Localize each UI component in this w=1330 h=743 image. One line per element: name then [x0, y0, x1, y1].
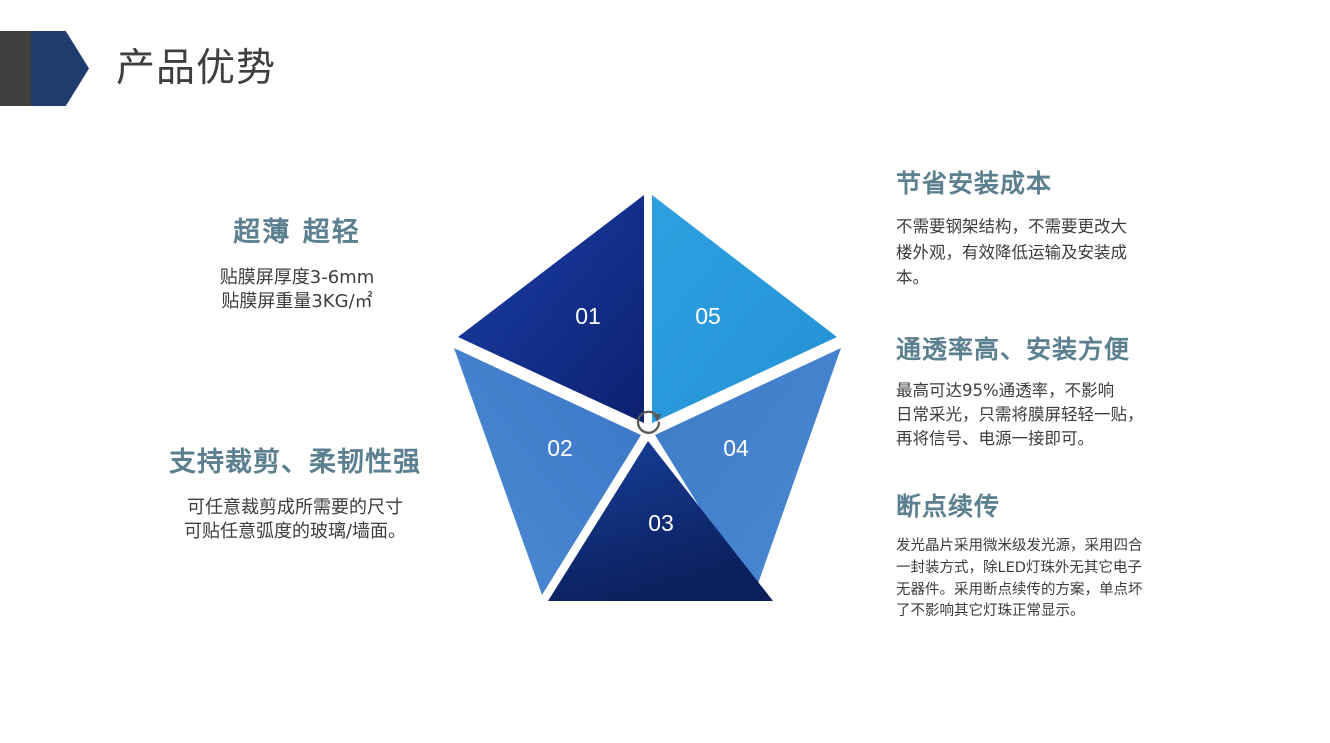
callout-install-cost-line-2: 楼外观，有效降低运输及安装成 — [896, 240, 1226, 266]
rotate-refresh-icon — [638, 412, 662, 433]
callout-transparency-body: 最高可达95%通透率，不影响 日常采光，只需将膜屏轻轻一贴， 再将信号、电源一接… — [896, 379, 1226, 451]
callout-thin-light-heading: 超薄 超轻 — [132, 210, 462, 249]
callout-cuttable-body: 可任意裁剪成所需要的尺寸 可贴任意弧度的玻璃/墙面。 — [125, 496, 465, 545]
callout-breakpoint-line-3: 无器件。采用断点续传的方案，单点坏 — [896, 580, 1226, 602]
callout-thin-light-body: 贴膜屏厚度3-6mm 贴膜屏重量3KG/㎡ — [132, 266, 462, 315]
callout-thin-light: 超薄 超轻 贴膜屏厚度3-6mm 贴膜屏重量3KG/㎡ — [132, 210, 462, 315]
callout-transparency-line-1: 最高可达95%通透率，不影响 — [896, 379, 1226, 403]
pentagon-svg: 01 05 02 04 03 — [438, 185, 858, 615]
page-header-banner: 产品优势 — [0, 31, 276, 106]
pentagon-segment-05-label: 05 — [695, 303, 721, 329]
callout-breakpoint-heading: 断点续传 — [896, 487, 1226, 523]
callout-transparency-heading: 通透率高、安装方便 — [896, 330, 1226, 366]
header-arrow-shape — [31, 31, 89, 106]
pentagon-segment-02-label: 02 — [547, 435, 573, 461]
pentagon-segment-04-label: 04 — [723, 435, 749, 461]
callout-cuttable-line-1: 可任意裁剪成所需要的尺寸 — [125, 496, 465, 520]
pentagon-segment-01-label: 01 — [575, 303, 601, 329]
callout-install-cost-body: 不需要钢架结构，不需要更改大 楼外观，有效降低运输及安装成 本。 — [896, 214, 1226, 291]
callout-transparency: 通透率高、安装方便 最高可达95%通透率，不影响 日常采光，只需将膜屏轻轻一贴，… — [896, 330, 1226, 451]
pentagon-segments-diagram: 01 05 02 04 03 — [438, 185, 858, 615]
callout-breakpoint-line-4: 了不影响其它灯珠正常显示。 — [896, 601, 1226, 623]
callout-install-cost: 节省安装成本 不需要钢架结构，不需要更改大 楼外观，有效降低运输及安装成 本。 — [896, 164, 1226, 291]
callout-thin-light-line-1: 贴膜屏厚度3-6mm — [132, 266, 462, 290]
callout-transparency-line-2: 日常采光，只需将膜屏轻轻一贴， — [896, 403, 1226, 427]
callout-install-cost-line-3: 本。 — [896, 265, 1226, 291]
callout-breakpoint-line-1: 发光晶片采用微米级发光源，采用四合 — [896, 536, 1226, 558]
callout-breakpoint: 断点续传 发光晶片采用微米级发光源，采用四合 一封装方式，除LED灯珠外无其它电… — [896, 487, 1226, 623]
callout-install-cost-line-1: 不需要钢架结构，不需要更改大 — [896, 214, 1226, 240]
callout-thin-light-line-2: 贴膜屏重量3KG/㎡ — [132, 290, 462, 314]
callout-install-cost-heading: 节省安装成本 — [896, 164, 1226, 200]
callout-breakpoint-line-2: 一封装方式，除LED灯珠外无其它电子 — [896, 558, 1226, 580]
callout-cuttable-line-2: 可贴任意弧度的玻璃/墙面。 — [125, 520, 465, 544]
callout-breakpoint-body: 发光晶片采用微米级发光源，采用四合 一封装方式，除LED灯珠外无其它电子 无器件… — [896, 536, 1226, 623]
callout-transparency-line-3: 再将信号、电源一接即可。 — [896, 427, 1226, 451]
callout-cuttable: 支持裁剪、柔韧性强 可任意裁剪成所需要的尺寸 可贴任意弧度的玻璃/墙面。 — [125, 440, 465, 545]
page-title: 产品优势 — [116, 49, 276, 88]
pentagon-segment-03-label: 03 — [648, 510, 674, 536]
callout-cuttable-heading: 支持裁剪、柔韧性强 — [125, 440, 465, 479]
header-gray-block — [0, 31, 31, 106]
